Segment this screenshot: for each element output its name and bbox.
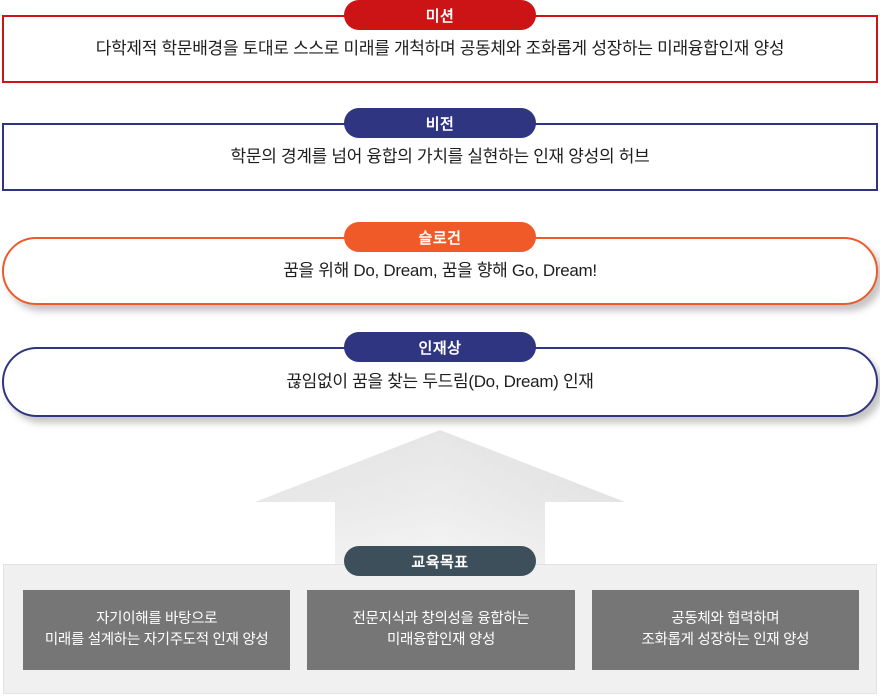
mission-badge: 미션 (344, 0, 536, 30)
slogan-badge: 슬로건 (344, 222, 536, 252)
goal-card: 자기이해를 바탕으로 미래를 설계하는 자기주도적 인재 양성 (23, 590, 290, 670)
goal-card: 전문지식과 창의성을 융합하는 미래융합인재 양성 (307, 590, 574, 670)
slogan-section: 꿈을 위해 Do, Dream, 꿈을 향해 Go, Dream! 슬로건 (0, 222, 880, 322)
vision-badge: 비전 (344, 108, 536, 138)
goal-card: 공동체와 협력하며 조화롭게 성장하는 인재 양성 (592, 590, 859, 670)
talent-section: 끊임없이 꿈을 찾는 두드림(Do, Dream) 인재 인재상 (0, 332, 880, 436)
goal-card-list: 자기이해를 바탕으로 미래를 설계하는 자기주도적 인재 양성 전문지식과 창의… (23, 590, 859, 670)
education-goals-section: 교육목표 자기이해를 바탕으로 미래를 설계하는 자기주도적 인재 양성 전문지… (3, 564, 877, 694)
mission-section: 다학제적 학문배경을 토대로 스스로 미래를 개척하며 공동체와 조화롭게 성장… (0, 0, 880, 96)
vision-section: 학문의 경계를 넘어 융합의 가치를 실현하는 인재 양성의 허브 비전 (0, 108, 880, 204)
slogan-text: 꿈을 위해 Do, Dream, 꿈을 향해 Go, Dream! (257, 260, 623, 283)
mission-text: 다학제적 학문배경을 토대로 스스로 미래를 개척하며 공동체와 조화롭게 성장… (70, 38, 811, 61)
talent-badge: 인재상 (344, 332, 536, 362)
talent-text: 끊임없이 꿈을 찾는 두드림(Do, Dream) 인재 (260, 371, 619, 394)
education-goal-badge: 교육목표 (344, 546, 536, 576)
diagram-canvas: 다학제적 학문배경을 토대로 스스로 미래를 개척하며 공동체와 조화롭게 성장… (0, 0, 880, 700)
vision-text: 학문의 경계를 넘어 융합의 가치를 실현하는 인재 양성의 허브 (205, 146, 676, 169)
